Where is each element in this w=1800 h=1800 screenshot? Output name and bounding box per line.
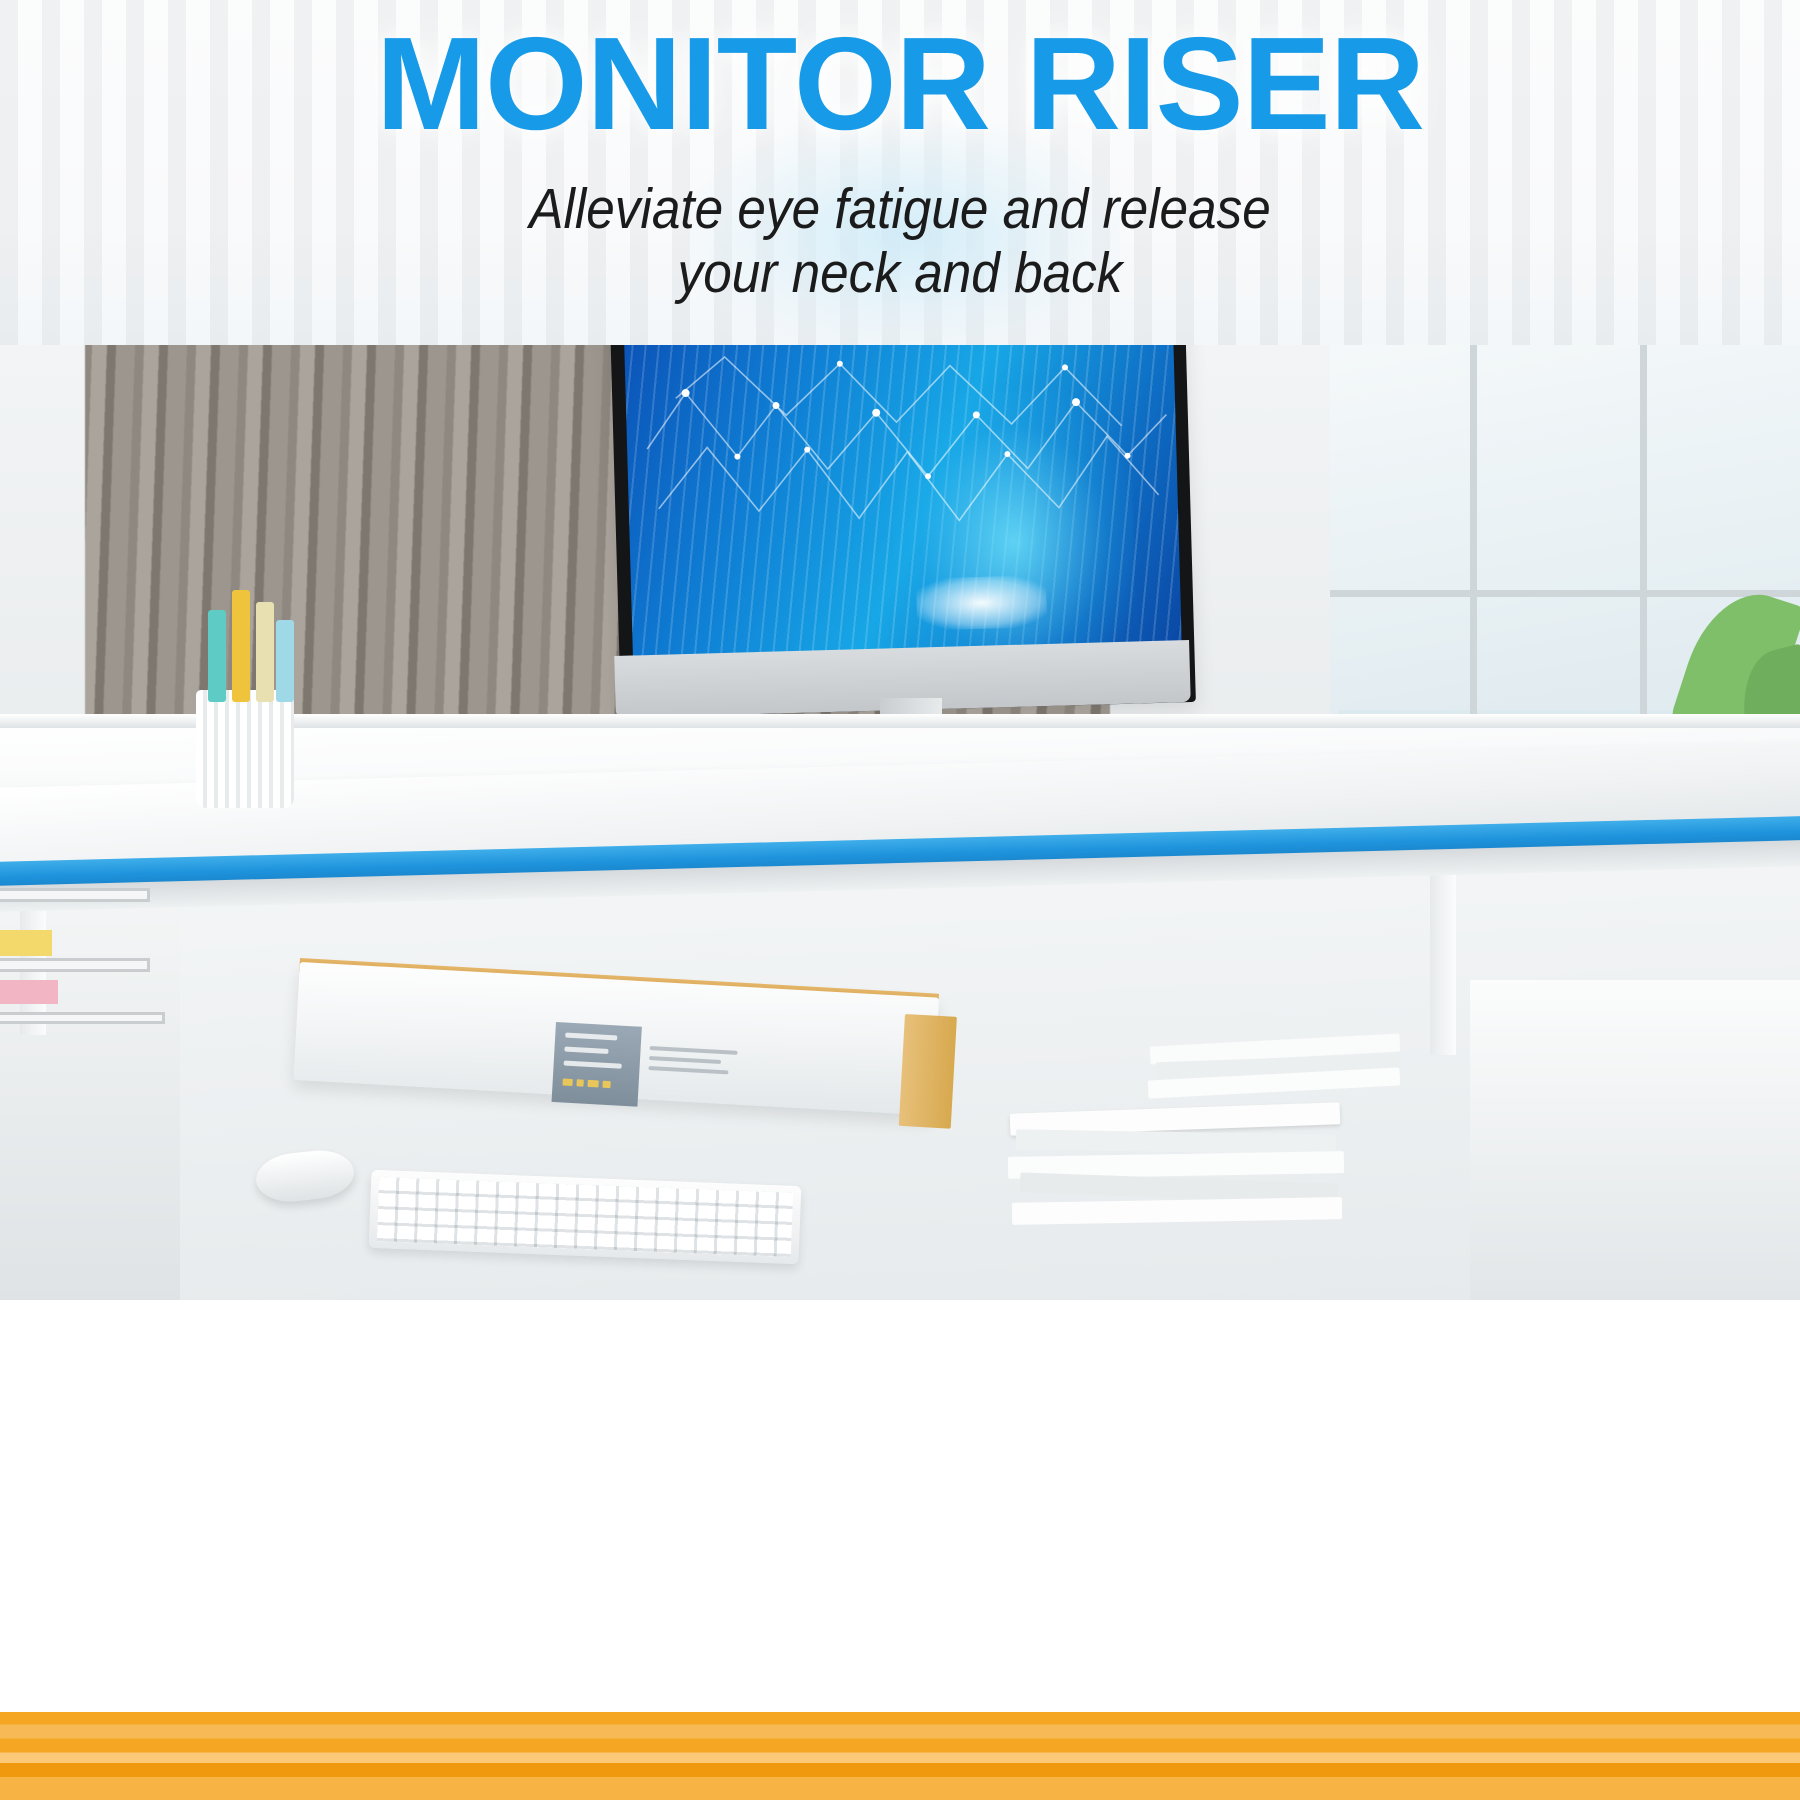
letter-tray xyxy=(0,1012,165,1024)
keyboard xyxy=(369,1170,802,1264)
pen xyxy=(208,610,226,702)
pen-cup xyxy=(196,690,294,808)
page-subtitle: Alleviate eye fatigue and release your n… xyxy=(90,178,1710,306)
desk-right-section xyxy=(1470,980,1800,1300)
letter-tray xyxy=(0,888,150,902)
screen-network-graphic xyxy=(623,290,1182,668)
pen xyxy=(232,590,250,702)
product-photo xyxy=(0,290,1800,1300)
letter-tray xyxy=(0,958,150,972)
keyboard-keys xyxy=(377,1177,793,1257)
floor-strip xyxy=(0,1712,1800,1800)
product-box-end-cap xyxy=(899,1014,957,1129)
monitor-screen xyxy=(623,290,1182,668)
subtitle-line-1: Alleviate eye fatigue and release xyxy=(90,178,1710,242)
subtitle-line-2: your neck and back xyxy=(90,242,1710,306)
header-banner: MONITOR RISER Alleviate eye fatigue and … xyxy=(0,0,1800,345)
page-title: MONITOR RISER xyxy=(0,14,1800,154)
pen xyxy=(256,602,274,702)
window-mullion xyxy=(1330,590,1800,597)
sticky-note xyxy=(0,930,52,956)
product-box-print xyxy=(648,1042,746,1083)
riser-leg-right xyxy=(1430,850,1456,1055)
sticky-note xyxy=(0,980,58,1004)
pen xyxy=(276,620,294,702)
product-box-label xyxy=(552,1022,642,1107)
product-marketing-image: MONITOR RISER Alleviate eye fatigue and … xyxy=(0,0,1800,1800)
